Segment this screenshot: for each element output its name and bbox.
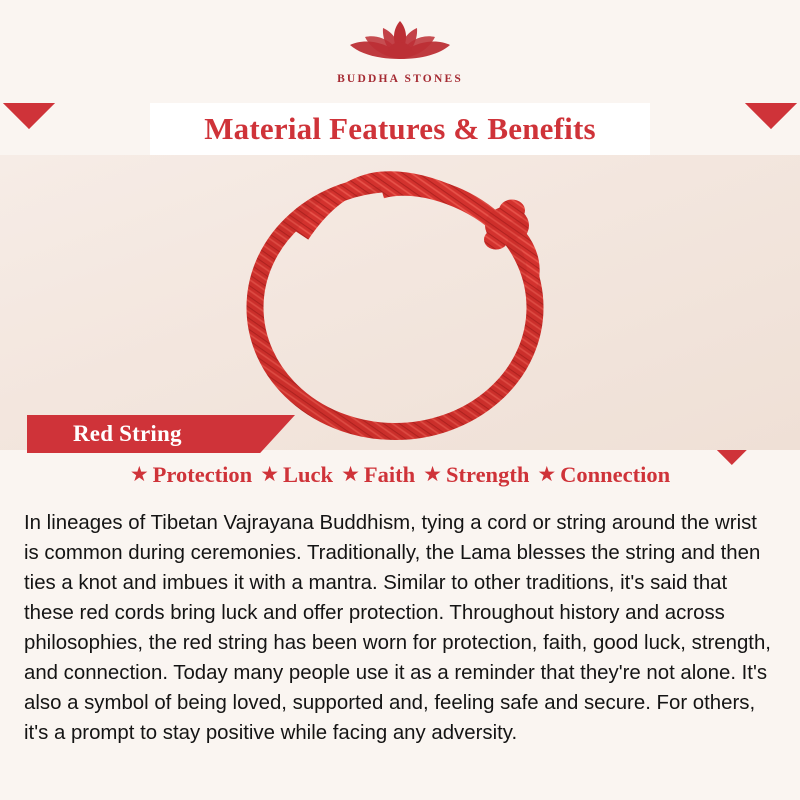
benefit-item: ★ Faith [341, 462, 415, 488]
benefit-item: ★ Connection [537, 462, 670, 488]
material-name: Red String [27, 421, 182, 447]
benefit-label: Strength [446, 462, 529, 488]
lotus-meditation-icon [334, 9, 466, 71]
star-icon: ★ [537, 464, 556, 485]
brand-name: BUDDHA STONES [337, 73, 463, 85]
star-icon: ★ [260, 464, 279, 485]
star-icon: ★ [341, 464, 360, 485]
page-title: Material Features & Benefits [204, 111, 596, 147]
star-icon: ★ [130, 464, 149, 485]
description-paragraph: In lineages of Tibetan Vajrayana Buddhis… [24, 508, 776, 748]
star-icon: ★ [423, 464, 442, 485]
product-hero-image [0, 155, 800, 450]
benefit-item: ★ Strength [423, 462, 529, 488]
benefit-item: ★ Protection [130, 462, 252, 488]
brand-header: BUDDHA STONES [0, 0, 800, 103]
red-braided-bracelet-graphic [190, 155, 610, 450]
benefits-list: ★ Protection ★ Luck ★ Faith ★ Strength ★… [0, 462, 800, 488]
benefit-label: Faith [364, 462, 415, 488]
infographic-page: BUDDHA STONES Material Features & Benefi… [0, 0, 800, 800]
material-name-ribbon: Red String [27, 415, 295, 453]
benefit-label: Connection [560, 462, 670, 488]
title-banner: Material Features & Benefits [150, 103, 650, 155]
benefit-label: Luck [283, 462, 333, 488]
benefit-label: Protection [153, 462, 253, 488]
benefit-item: ★ Luck [260, 462, 333, 488]
